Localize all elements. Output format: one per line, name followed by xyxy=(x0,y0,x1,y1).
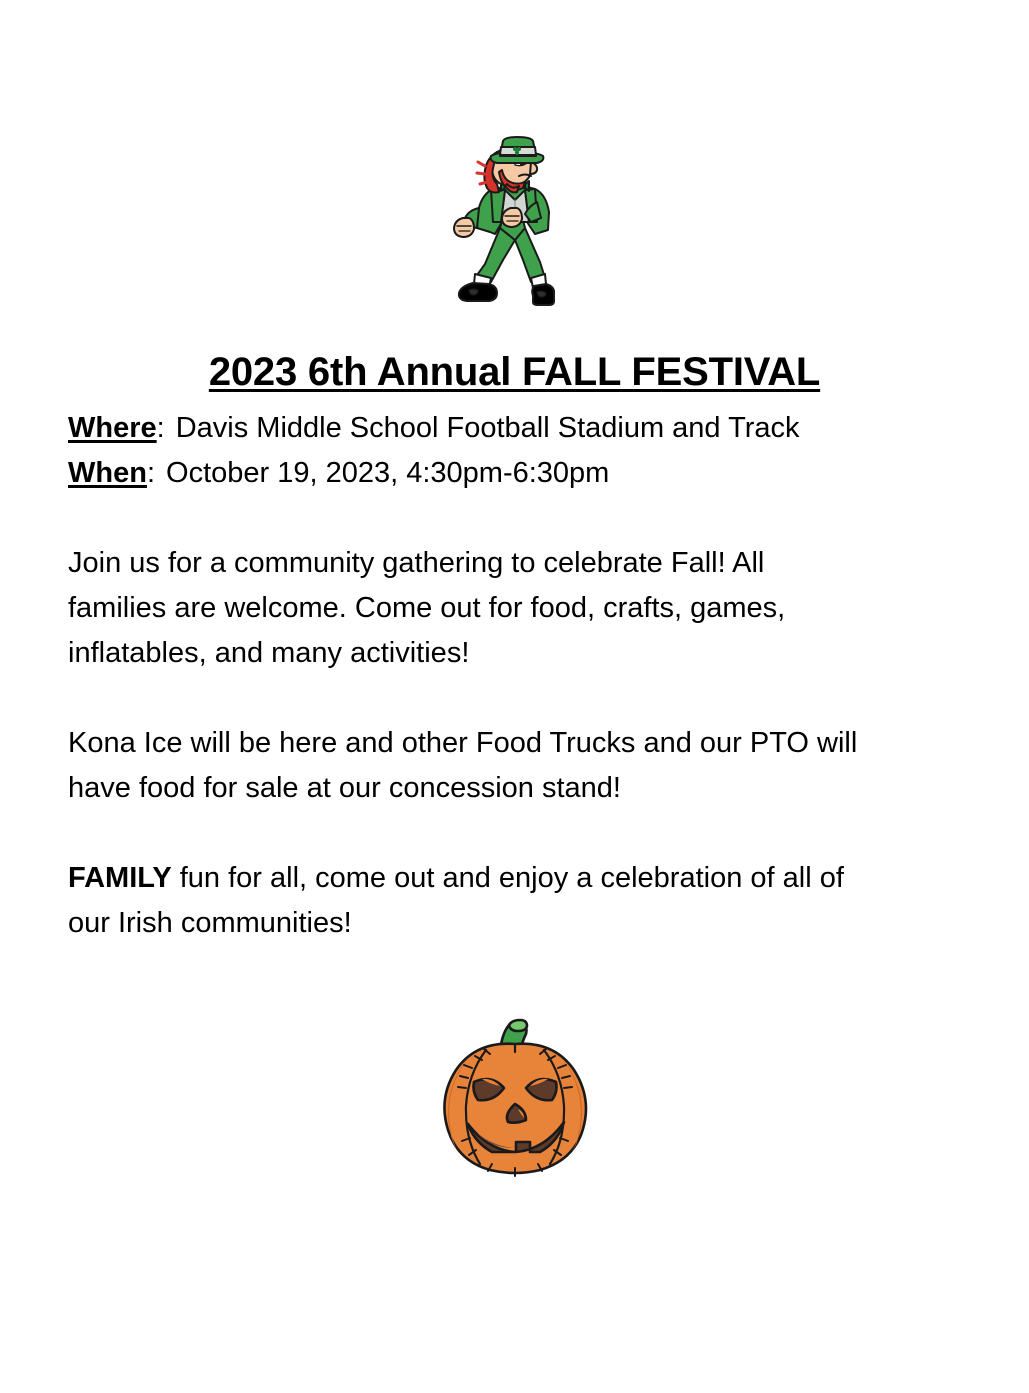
event-details-block: Where:Davis Middle School Football Stadi… xyxy=(68,406,958,496)
closing-paragraph: FAMILY fun for all, come out and enjoy a… xyxy=(68,856,958,946)
when-label: When xyxy=(68,457,147,489)
where-separator: : xyxy=(157,412,165,444)
where-label: Where xyxy=(68,412,157,444)
page-title-text: 2023 6th Annual FALL FESTIVAL xyxy=(209,350,820,394)
when-value: October 19, 2023, 4:30pm-6:30pm xyxy=(166,457,609,489)
closing-line-2: our Irish communities! xyxy=(68,901,958,946)
paragraph-line: families are welcome. Come out for food,… xyxy=(68,586,958,631)
paragraph-line: inflatables, and many activities! xyxy=(68,631,958,676)
flyer-page: 2023 6th Annual FALL FESTIVAL Where:Davi… xyxy=(0,0,1029,1393)
jack-o-lantern-image xyxy=(0,1008,1029,1180)
paragraph-line: have food for sale at our concession sta… xyxy=(68,766,958,811)
jack-o-lantern-icon xyxy=(430,1008,600,1180)
page-title: 2023 6th Annual FALL FESTIVAL xyxy=(0,347,1029,397)
leprechaun-mascot-image xyxy=(0,136,1029,306)
where-line: Where:Davis Middle School Football Stadi… xyxy=(68,406,958,451)
family-emphasis: FAMILY xyxy=(68,862,172,894)
flyer-body: Where:Davis Middle School Football Stadi… xyxy=(68,406,958,946)
leprechaun-mascot-icon xyxy=(445,136,585,306)
closing-line-1: FAMILY fun for all, come out and enjoy a… xyxy=(68,856,958,901)
intro-paragraph: Join us for a community gathering to cel… xyxy=(68,541,958,676)
where-value: Davis Middle School Football Stadium and… xyxy=(176,412,800,444)
when-line: When:October 19, 2023, 4:30pm-6:30pm xyxy=(68,451,958,496)
when-separator: : xyxy=(147,457,155,489)
paragraph-line: Join us for a community gathering to cel… xyxy=(68,541,958,586)
food-paragraph: Kona Ice will be here and other Food Tru… xyxy=(68,721,958,811)
paragraph-line: Kona Ice will be here and other Food Tru… xyxy=(68,721,958,766)
closing-line-1-rest: fun for all, come out and enjoy a celebr… xyxy=(172,862,844,894)
